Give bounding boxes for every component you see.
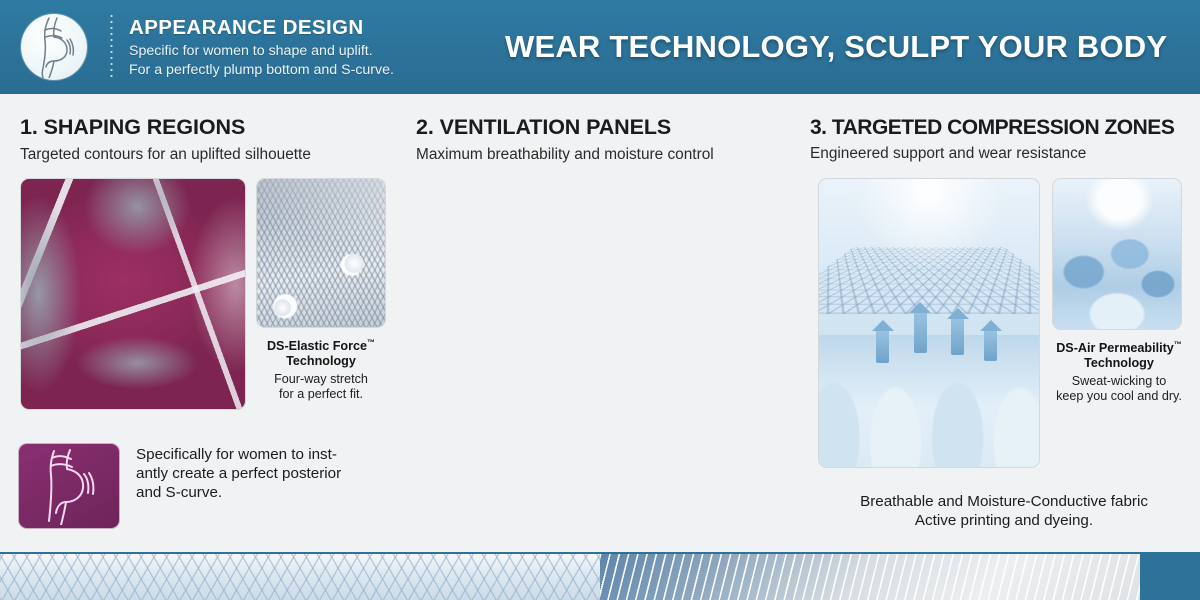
column-2-subtitle: Maximum breathability and moisture contr… bbox=[416, 146, 786, 164]
footer-honeycomb-image bbox=[0, 552, 600, 600]
shaping-description: Specifically for women to inst- antly cr… bbox=[136, 445, 398, 502]
elastic-mesh-image bbox=[256, 178, 386, 328]
brand-subtitle-line-2: For a perfectly plump bottom and S-curve… bbox=[129, 61, 394, 80]
column-ventilation-panels: 2. VENTILATION PANELS Maximum breathabil… bbox=[400, 94, 800, 552]
column-compression-zones: 3. TARGETED COMPRESSION ZONES Engineered… bbox=[800, 94, 1200, 552]
female-silhouette-icon bbox=[21, 14, 87, 80]
column-1-title: 1. SHAPING REGIONS bbox=[20, 116, 386, 140]
main-headline: WEAR TECHNOLOGY, SCULPT YOUR BODY bbox=[505, 29, 1167, 65]
column-shaping-regions: 1. SHAPING REGIONS Targeted contours for… bbox=[0, 94, 400, 552]
column-3-subtitle: Engineered support and wear resistance bbox=[810, 145, 1186, 163]
shaping-hero-image bbox=[20, 178, 246, 410]
shaping-description-line-3: and S-curve. bbox=[136, 483, 398, 502]
ds-elastic-force-name: DS-Elastic Force™ bbox=[250, 338, 392, 354]
column-1-subtitle: Targeted contours for an uplifted silhou… bbox=[20, 146, 386, 164]
brand-title: APPEARANCE DESIGN bbox=[129, 16, 394, 40]
footer-image-strip bbox=[0, 552, 1200, 600]
column-2-title: 2. VENTILATION PANELS bbox=[416, 116, 786, 140]
shaping-description-line-1: Specifically for women to inst- bbox=[136, 445, 398, 464]
footer-accent-block bbox=[1140, 552, 1200, 600]
ds-elastic-force-label: DS-Elastic Force bbox=[267, 339, 367, 353]
ds-elastic-force-desc-1: Four-way stretch bbox=[250, 372, 392, 387]
header-bar: APPEARANCE DESIGN Specific for women to … bbox=[0, 0, 1200, 94]
brand-subtitle: Specific for women to shape and uplift. … bbox=[129, 42, 394, 80]
ds-elastic-force-technology-word: Technology bbox=[250, 354, 392, 369]
body-contour-tile bbox=[18, 443, 120, 529]
logo-wrap bbox=[0, 14, 108, 80]
footer-thread-image bbox=[600, 552, 1140, 600]
infographic-page: APPEARANCE DESIGN Specific for women to … bbox=[0, 0, 1200, 600]
ds-elastic-force-caption: DS-Elastic Force™ Technology Four-way st… bbox=[250, 338, 392, 402]
column-3-title: 3. TARGETED COMPRESSION ZONES bbox=[810, 116, 1186, 139]
brand-block: APPEARANCE DESIGN Specific for women to … bbox=[129, 14, 394, 80]
brand-subtitle-line-1: Specific for women to shape and uplift. bbox=[129, 42, 394, 61]
body-contour-icon bbox=[34, 447, 104, 525]
content-columns: 1. SHAPING REGIONS Targeted contours for… bbox=[0, 94, 1200, 552]
shaping-description-line-2: antly create a perfect posterior bbox=[136, 464, 398, 483]
dotted-divider bbox=[110, 13, 113, 81]
trademark-symbol: ™ bbox=[367, 338, 375, 347]
ds-elastic-force-desc-2: for a perfect fit. bbox=[250, 387, 392, 402]
